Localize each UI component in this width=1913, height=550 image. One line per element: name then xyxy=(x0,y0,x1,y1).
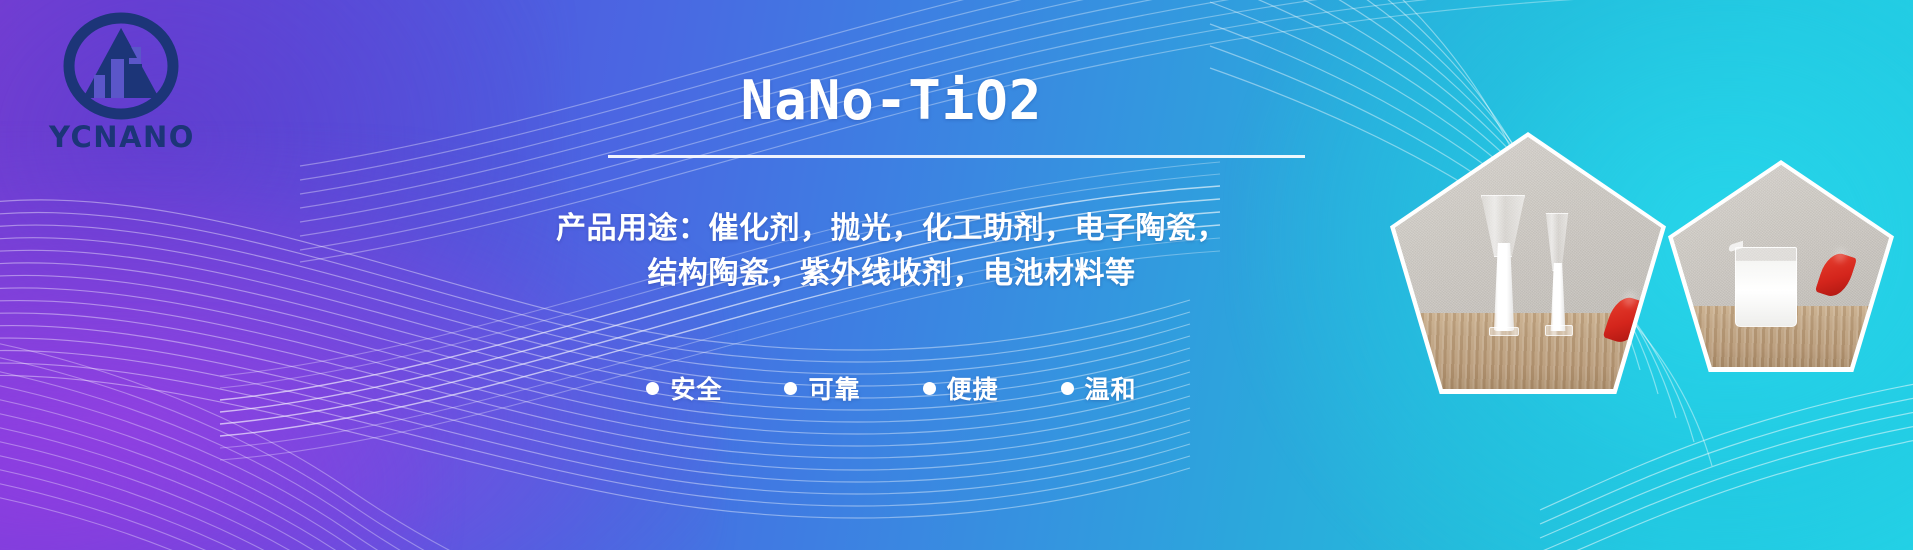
feature-label: 便捷 xyxy=(947,370,999,406)
page-title: NaNo-TiO2 xyxy=(0,74,1913,128)
vase-base-left xyxy=(1489,327,1519,336)
bullet-dot-icon xyxy=(646,382,659,395)
feature-item-reliable: 可靠 xyxy=(784,370,860,406)
feature-label: 安全 xyxy=(670,370,722,406)
background-violet-bloom-secondary xyxy=(0,330,440,550)
vase-base-right xyxy=(1545,325,1573,336)
feature-item-mild: 温和 xyxy=(1061,370,1137,406)
feature-item-convenient: 便捷 xyxy=(923,370,999,406)
beaker-with-slurry xyxy=(1735,247,1797,327)
product-banner: YCNANO NaNo-TiO2 产品用途：催化剂，抛光，化工助剂，电子陶瓷， … xyxy=(0,0,1913,550)
feature-label: 温和 xyxy=(1085,370,1137,406)
title-divider xyxy=(608,155,1305,158)
bullet-dot-icon xyxy=(1061,382,1074,395)
bullet-dot-icon xyxy=(923,382,936,395)
feature-label: 可靠 xyxy=(808,370,860,406)
bullet-dot-icon xyxy=(784,382,797,395)
feature-list: 安全 可靠 便捷 温和 xyxy=(0,370,1913,406)
feature-item-safe: 安全 xyxy=(646,370,722,406)
